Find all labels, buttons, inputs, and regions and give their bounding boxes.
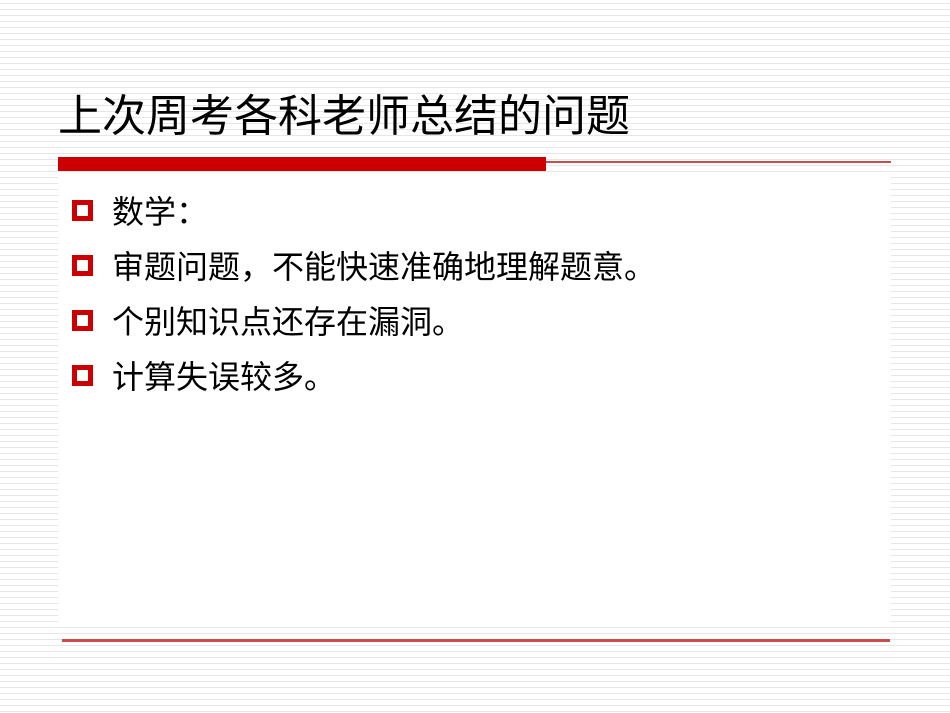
title-divider	[58, 157, 891, 171]
list-item: 个别知识点还存在漏洞。	[72, 296, 882, 351]
list-item-label: 计算失误较多。	[112, 351, 882, 403]
list-item-label: 数学：	[112, 186, 882, 238]
hollow-square-bullet-icon	[72, 365, 93, 386]
list-item: 计算失误较多。	[72, 351, 882, 406]
list-item: 数学：	[72, 186, 882, 241]
page-title: 上次周考各科老师总结的问题	[58, 86, 898, 148]
content-body: 数学： 审题问题，不能快速准确地理解题意。 个别知识点还存在漏洞。 计算失误较多…	[58, 176, 891, 625]
hollow-square-bullet-icon	[72, 200, 93, 221]
divider-thick-bar	[58, 157, 546, 171]
hollow-square-bullet-icon	[72, 310, 93, 331]
hollow-square-bullet-icon	[72, 255, 93, 276]
footer-divider	[62, 639, 890, 642]
bullet-list: 数学： 审题问题，不能快速准确地理解题意。 个别知识点还存在漏洞。 计算失误较多…	[72, 186, 882, 406]
slide-canvas: 上次周考各科老师总结的问题 数学： 审题问题，不能快速准确地理解题意。 个别知识…	[0, 0, 950, 713]
list-item-label: 个别知识点还存在漏洞。	[112, 296, 882, 348]
list-item: 审题问题，不能快速准确地理解题意。	[72, 241, 882, 296]
slide-title-block: 上次周考各科老师总结的问题	[58, 86, 898, 152]
list-item-label: 审题问题，不能快速准确地理解题意。	[112, 241, 882, 293]
